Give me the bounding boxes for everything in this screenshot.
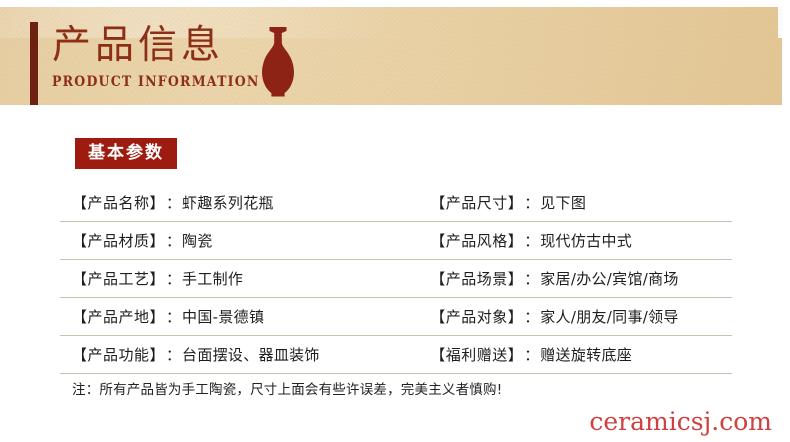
param-value: 赠送旋转底座	[540, 345, 632, 365]
param-value: 陶瓷	[182, 231, 213, 251]
site-watermark: ceramicsj.com	[589, 408, 772, 436]
banner-title-block: 产品信息 PRODUCT INFORMATION	[52, 23, 267, 91]
param-value: 手工制作	[182, 269, 243, 289]
param-key: 【产品场景】	[430, 269, 523, 289]
param-separator: ：	[165, 307, 182, 327]
table-row: 【产品产地】 ： 中国-景德镇 【产品对象】 ： 家人/朋友/同事/领导	[60, 298, 732, 336]
table-row: 【产品名称】 ： 虾趣系列花瓶 【产品尺寸】 ： 见下图	[60, 184, 732, 222]
param-cell-welfare-gift: 【福利赠送】 ： 赠送旋转底座	[420, 345, 732, 365]
param-key: 【产品功能】	[72, 345, 165, 365]
param-value: 中国-景德镇	[182, 307, 264, 327]
page-title: 产品信息	[52, 23, 267, 69]
param-key: 【产品名称】	[72, 193, 165, 213]
table-row: 【产品工艺】 ： 手工制作 【产品场景】 ： 家居/办公/宾馆/商场	[60, 260, 732, 298]
param-separator: ：	[165, 231, 182, 251]
param-value: 见下图	[540, 193, 586, 213]
param-key: 【产品材质】	[72, 231, 165, 251]
param-key: 【福利赠送】	[430, 345, 523, 365]
table-row: 【产品材质】 ： 陶瓷 【产品风格】 ： 现代仿古中式	[60, 222, 732, 260]
table-row: 【产品功能】 ： 台面摆设、器皿装饰 【福利赠送】 ： 赠送旋转底座	[60, 336, 732, 374]
page-header-banner: 产品信息 PRODUCT INFORMATION	[0, 7, 782, 105]
param-value: 现代仿古中式	[540, 231, 632, 251]
banner-accent-bar	[30, 22, 38, 105]
param-key: 【产品工艺】	[72, 269, 165, 289]
param-key: 【产品尺寸】	[430, 193, 523, 213]
param-cell-product-size: 【产品尺寸】 ： 见下图	[420, 193, 732, 213]
param-value: 家人/朋友/同事/领导	[540, 307, 678, 327]
param-cell-product-name: 【产品名称】 ： 虾趣系列花瓶	[60, 193, 420, 213]
param-cell-product-scene: 【产品场景】 ： 家居/办公/宾馆/商场	[420, 269, 732, 289]
page-subtitle: PRODUCT INFORMATION	[52, 73, 252, 91]
param-key: 【产品产地】	[72, 307, 165, 327]
param-cell-product-origin: 【产品产地】 ： 中国-景德镇	[60, 307, 420, 327]
section-badge-basic-parameters: 基本参数	[75, 138, 177, 169]
param-key: 【产品对象】	[430, 307, 523, 327]
param-separator: ：	[165, 269, 182, 289]
vase-icon	[256, 25, 300, 99]
param-separator: ：	[165, 193, 182, 213]
param-separator: ：	[523, 307, 540, 327]
param-cell-product-function: 【产品功能】 ： 台面摆设、器皿装饰	[60, 345, 420, 365]
param-cell-product-craft: 【产品工艺】 ： 手工制作	[60, 269, 420, 289]
param-cell-product-audience: 【产品对象】 ： 家人/朋友/同事/领导	[420, 307, 732, 327]
param-separator: ：	[523, 269, 540, 289]
param-value: 台面摆设、器皿装饰	[182, 345, 320, 365]
param-value: 虾趣系列花瓶	[182, 193, 274, 213]
param-value: 家居/办公/宾馆/商场	[540, 269, 678, 289]
param-cell-product-style: 【产品风格】 ： 现代仿古中式	[420, 231, 732, 251]
param-key: 【产品风格】	[430, 231, 523, 251]
param-cell-product-material: 【产品材质】 ： 陶瓷	[60, 231, 420, 251]
param-separator: ：	[523, 193, 540, 213]
param-separator: ：	[523, 345, 540, 365]
param-separator: ：	[165, 345, 182, 365]
disclaimer-note: 注：所有产品皆为手工陶瓷，尺寸上面会有些许误差，完美主义者慎购!	[72, 381, 502, 399]
param-separator: ：	[523, 231, 540, 251]
product-parameter-table: 【产品名称】 ： 虾趣系列花瓶 【产品尺寸】 ： 见下图 【产品材质】 ： 陶瓷…	[60, 184, 732, 374]
